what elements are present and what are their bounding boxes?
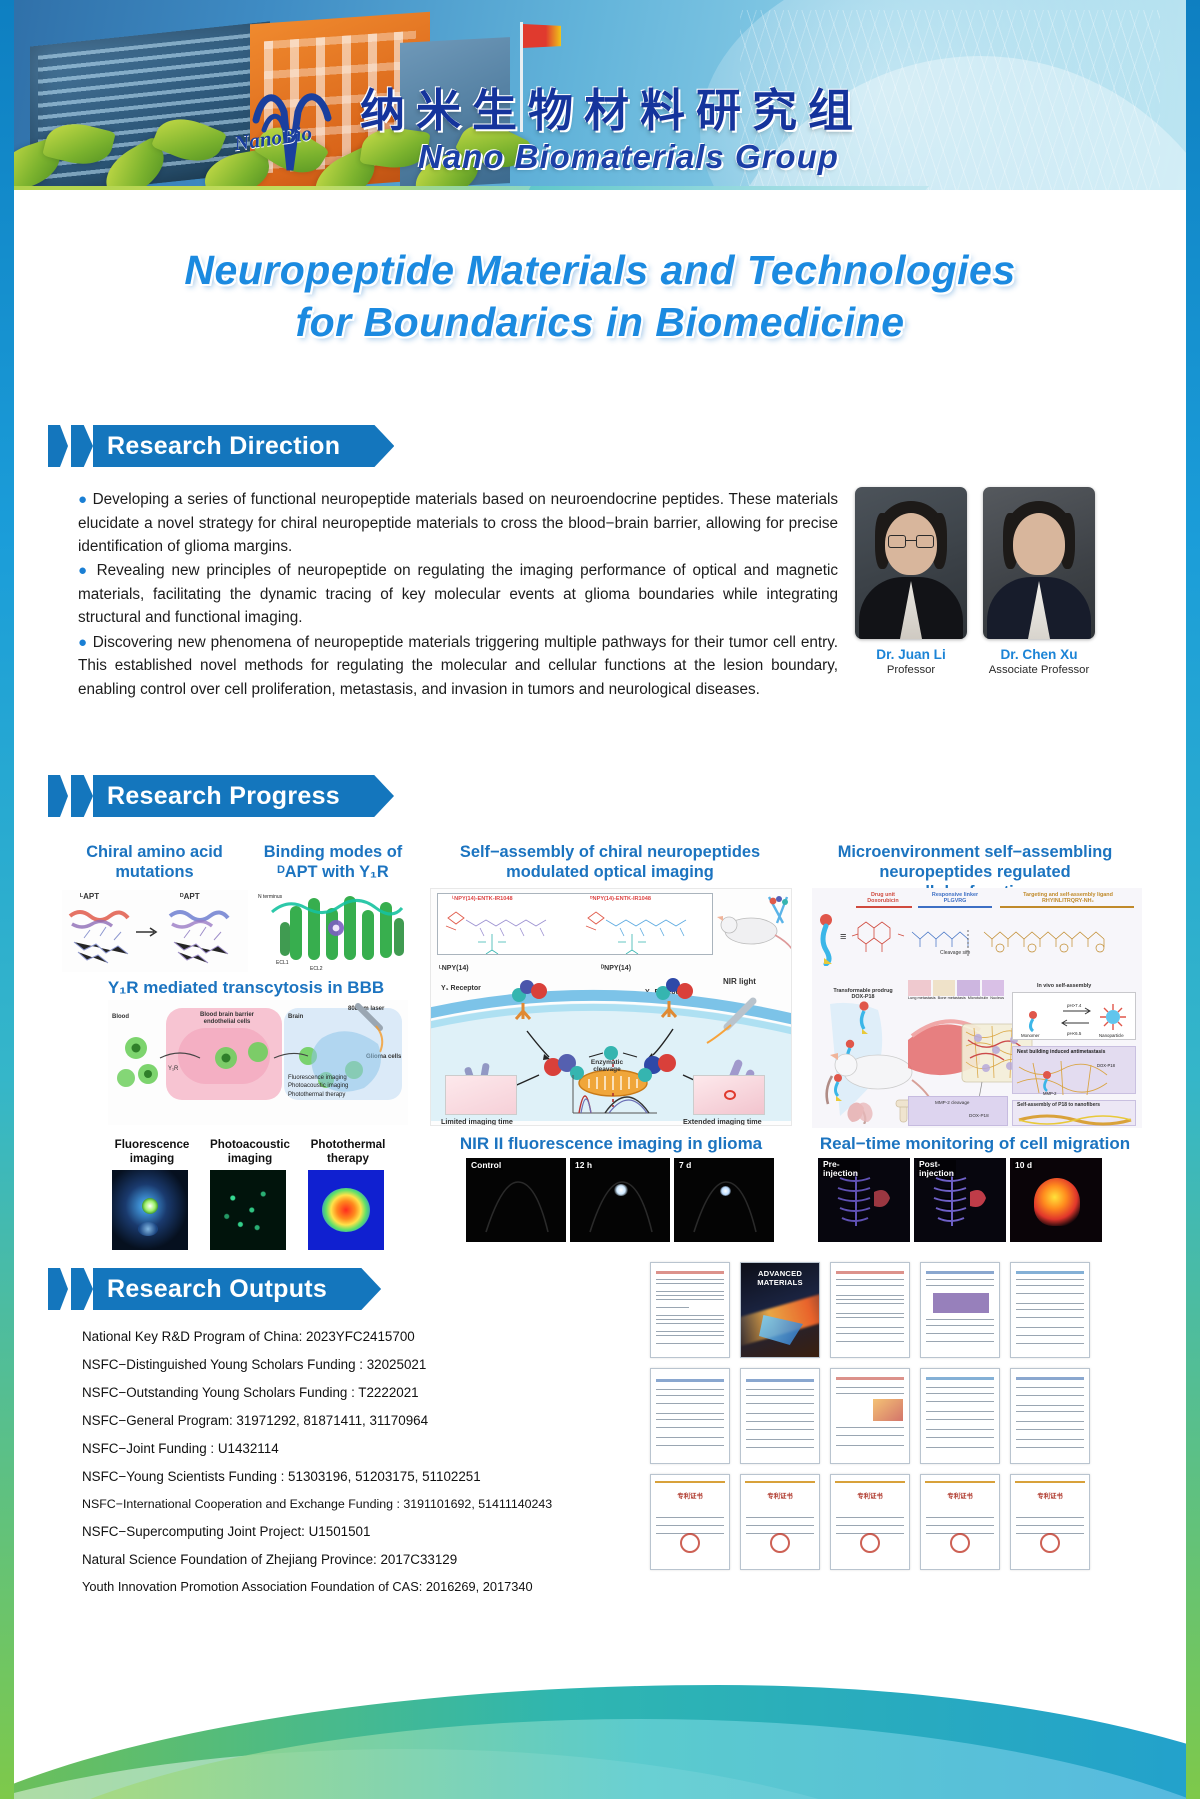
avatar	[983, 487, 1095, 639]
image-nir2-12h: 12 h	[570, 1158, 670, 1242]
svg-text:Monomer: Monomer	[1021, 1033, 1040, 1038]
funding-item: NSFC−General Program: 31971292, 81871411…	[82, 1414, 662, 1427]
bullet-icon: ●	[78, 634, 88, 651]
publication-thumbnail[interactable]	[1010, 1368, 1090, 1464]
funding-item: NSFC−International Cooperation and Excha…	[82, 1498, 662, 1510]
publication-thumbnail[interactable]	[1010, 1262, 1090, 1358]
direction-bullet-3-text: Discovering new phenomena of neuropeptid…	[78, 634, 838, 698]
chevron-icon	[48, 1268, 68, 1310]
team-member-name: Dr. Chen Xu	[983, 647, 1095, 662]
bullet-icon: ●	[78, 491, 88, 508]
label-nest-building: Nest building induced antimetastasis	[1017, 1049, 1105, 1055]
progress-title-binding: Binding modes of ᴰAPT with Y₁R	[243, 842, 423, 882]
progress-title-micro-l2: neuropeptides regulated	[800, 862, 1150, 882]
certificate-thumbnail[interactable]: 专利证书	[650, 1474, 730, 1570]
main-title-line-2: for Boundarics in Biomedicine	[0, 296, 1200, 348]
svg-text:MMP-2: MMP-2	[1043, 1091, 1057, 1096]
bbb-nanoparticle-graphic	[108, 1000, 408, 1125]
funding-item: NSFC−Young Scientists Funding : 51303196…	[82, 1470, 662, 1483]
direction-bullet-2: ● Revealing new principles of neuropepti…	[78, 559, 838, 629]
progress-title-binding-l1: Binding modes of	[243, 842, 423, 862]
image-photothermal	[308, 1170, 384, 1250]
image-pre-injection: Pre- injection	[818, 1158, 910, 1242]
label-probe-l: ᴸNPY(14)-ENTK-IR1048	[452, 896, 513, 902]
team-member-name: Dr. Juan Li	[855, 647, 967, 662]
panel-nest-building: Nest building induced antimetastasis DOX…	[1012, 1046, 1136, 1094]
realtime-cell-caption: Post- injection	[917, 1160, 956, 1177]
probe-molecule-graphic	[438, 906, 714, 954]
image-post-injection: Post- injection	[914, 1158, 1006, 1242]
publication-journal-cover[interactable]: ADVANCED MATERIALS	[740, 1262, 820, 1358]
label-extended-imaging-time: Extended imaging time	[683, 1117, 762, 1126]
certificate-thumbnail[interactable]: 专利证书	[920, 1474, 1000, 1570]
publication-thumbnail[interactable]	[650, 1262, 730, 1358]
funding-item: NSFC−Supercomputing Joint Project: U1501…	[82, 1525, 662, 1538]
bullet-icon: ●	[78, 562, 90, 579]
label-lapt: ᴸAPT	[80, 892, 99, 901]
image-nir2-control: Control	[466, 1158, 566, 1242]
funding-item: NSFC−Distinguished Young Scholars Fundin…	[82, 1358, 662, 1371]
probe-structure-box: ᴸNPY(14)-ENTK-IR1048 ᴰNPY(14)-ENTK-IR104…	[437, 893, 713, 955]
chevron-icon	[48, 775, 68, 817]
direction-bullet-2-text: Revealing new principles of neuropeptide…	[78, 562, 838, 626]
figure-optical-imaging: ᴸNPY(14)-ENTK-IR1048 ᴰNPY(14)-ENTK-IR104…	[430, 888, 792, 1126]
progress-title-self-assembly-l1: Self−assembly of chiral neuropeptides	[430, 842, 790, 862]
bbb-bullet-list: Fluorescence imaging Photoacoustic imagi…	[288, 1074, 348, 1099]
image-limited-imaging	[445, 1075, 517, 1115]
organ-thumbnail-labels: Lung metastasis Bone metastasis Microtub…	[908, 996, 1004, 1000]
progress-title-binding-l2: ᴰAPT with Y₁R	[243, 862, 423, 882]
footer-wave-decoration	[0, 1599, 1200, 1799]
image-nir2-7d: 7 d	[674, 1158, 774, 1242]
image-extended-imaging	[693, 1075, 765, 1115]
bbb-bullet-2: Photothermal therapy	[288, 1091, 348, 1099]
banner-title-english: Nano Biomaterials Group	[418, 138, 839, 176]
direction-bullet-1-text: Developing a series of functional neurop…	[78, 491, 838, 555]
label-invivo-self-assembly: In vivo self-assembly	[1037, 983, 1091, 989]
chevron-icon	[48, 425, 68, 467]
protein-ribbon-graphic: N terminus ECL2 ECL1	[250, 888, 422, 974]
figure-binding-modes: N terminus ECL2 ECL1	[250, 888, 422, 974]
panel-invivo-self-assembly: In vivo self-assembly pH>7.4 pH<6.5 Mono…	[1012, 992, 1136, 1040]
certificate-thumbnail[interactable]: 专利证书	[1010, 1474, 1090, 1570]
publication-thumbnails: ADVANCED MATERIALS	[650, 1262, 1090, 1570]
figure-microenvironment: Drug unitDoxorubicin Responsive linkerPL…	[812, 888, 1142, 1128]
progress-title-self-assembly: Self−assembly of chiral neuropeptides mo…	[430, 842, 790, 882]
progress-title-self-assembly-l2: modulated optical imaging	[430, 862, 790, 882]
chevron-icon	[71, 425, 93, 467]
label-responsive-linker: Responsive linkerPLGVRG	[922, 892, 988, 904]
funding-item: NSFC−Joint Funding : U1432114	[82, 1442, 662, 1455]
label-enzymatic-cleavage: Enzymaticcleavage	[577, 1059, 637, 1074]
realtime-cell-caption: Pre- injection	[821, 1160, 860, 1177]
funding-item: Natural Science Foundation of Zhejiang P…	[82, 1553, 662, 1566]
banner-title-chinese: 纳米生物材料研究组	[360, 74, 864, 139]
publication-thumbnail[interactable]	[740, 1368, 820, 1464]
nir2-cell-caption: 7 d	[677, 1160, 693, 1170]
spectra-plot	[565, 1073, 661, 1117]
caption-fluorescence-imaging: Fluorescence imaging	[106, 1138, 198, 1165]
certificate-thumbnail[interactable]: 专利证书	[830, 1474, 910, 1570]
prodrug-molecule-graphic: ≡	[812, 910, 1142, 966]
section-title-label: Research Direction	[107, 432, 340, 461]
journal-title: ADVANCED MATERIALS	[745, 1269, 815, 1287]
progress-title-nir2: NIR II fluorescence imaging in glioma	[430, 1134, 792, 1155]
label-drug-unit: Drug unitDoxorubicin	[856, 892, 910, 904]
label-dox-p18: DOX-P18	[969, 1113, 989, 1118]
publication-thumbnail[interactable]	[830, 1368, 910, 1464]
direction-bullet-3: ● Discovering new phenomena of neuropept…	[78, 631, 838, 701]
monomer-nanoparticle-graphic: pH>7.4 pH<6.5 Monomer Nanoparticle	[1013, 993, 1137, 1041]
realtime-cell-caption: 10 d	[1013, 1160, 1034, 1170]
bbb-bullet-0: Fluorescence imaging	[288, 1074, 348, 1082]
caption-photothermal-therapy: Photothermal therapy	[300, 1138, 396, 1165]
chevron-icon	[71, 775, 93, 817]
label-mmp-cleavage: MMP-2 cleavage	[935, 1100, 969, 1105]
nir2-cell-caption: Control	[469, 1160, 503, 1170]
caption-photoacoustic-imaging: Photoacoustic imaging	[200, 1138, 300, 1165]
funding-item: Youth Innovation Promotion Association F…	[82, 1581, 662, 1594]
progress-title-chiral-l2: mutations	[62, 862, 247, 882]
image-photoacoustic	[210, 1170, 286, 1250]
funding-item: NSFC−Outstanding Young Scholars Funding …	[82, 1386, 662, 1399]
panel-selfassembly-nanofibers: Self-assembly of P18 to nanofibers	[1012, 1100, 1136, 1126]
section-header-research-progress: Research Progress	[48, 775, 374, 817]
svg-text:DOX-P18: DOX-P18	[1097, 1063, 1116, 1068]
publication-thumbnail[interactable]	[650, 1368, 730, 1464]
funding-item: National Key R&D Program of China: 2023Y…	[82, 1330, 662, 1343]
label-targeting-ligand: Targeting and self-assembly ligandRHYINL…	[1004, 892, 1132, 904]
label-probe-d: ᴰNPY(14)-ENTK-IR1048	[590, 896, 651, 902]
team-member: Dr. Chen Xu Associate Professor	[983, 487, 1095, 672]
main-title-line-1: Neuropeptide Materials and Technologies	[0, 244, 1200, 296]
certificate-thumbnail[interactable]: 专利证书	[740, 1474, 820, 1570]
section-title-label: Research Outputs	[107, 1275, 327, 1304]
nanobio-logo: NanoBio	[228, 82, 340, 174]
svg-text:≡: ≡	[840, 931, 846, 943]
peptide-structure-graphic	[62, 902, 248, 972]
progress-title-realtime: Real−time monitoring of cell migration	[800, 1134, 1150, 1155]
publication-thumbnail[interactable]	[830, 1262, 910, 1358]
svg-text:ECL2: ECL2	[310, 966, 323, 972]
svg-text:Nanoparticle: Nanoparticle	[1099, 1033, 1124, 1038]
panel-cell-internalization: MMP-2 cleavage DOX-P18	[908, 1096, 1008, 1126]
progress-title-micro-l1: Microenvironment self−assembling	[800, 842, 1150, 862]
glasses-icon	[888, 535, 934, 548]
section-header-research-direction: Research Direction	[48, 425, 374, 467]
image-fluorescence	[112, 1170, 188, 1250]
chevron-icon	[71, 1268, 93, 1310]
svg-text:pH<6.5: pH<6.5	[1067, 1031, 1082, 1036]
svg-text:N terminus: N terminus	[258, 894, 283, 900]
label-dapt: ᴰAPT	[180, 892, 200, 901]
research-direction-body: ● Developing a series of functional neur…	[78, 488, 838, 702]
progress-title-chiral: Chiral amino acid mutations	[62, 842, 247, 882]
svg-text:ECL1: ECL1	[276, 960, 289, 966]
svg-text:pH>7.4: pH>7.4	[1067, 1003, 1082, 1008]
avatar	[855, 487, 967, 639]
team-member: Dr. Juan Li Professor	[855, 487, 967, 672]
header-banner: NanoBio 纳米生物材料研究组 Nano Biomaterials Grou…	[0, 0, 1200, 196]
frame-border-right	[1186, 0, 1200, 1799]
progress-title-y1r-bbb: Y₁R mediated transcytosis in BBB	[60, 978, 432, 999]
publication-thumbnail[interactable]	[920, 1262, 1000, 1358]
nanofiber-network-graphic: DOX-P18 MMP-2	[1013, 1057, 1137, 1097]
bbb-bullet-1: Photoacoustic imaging	[288, 1082, 348, 1090]
nir2-cell-caption: 12 h	[573, 1160, 594, 1170]
label-limited-imaging-time: Limited imaging time	[441, 1117, 513, 1126]
poster-main-title: Neuropeptide Materials and Technologies …	[0, 244, 1200, 349]
funding-list: National Key R&D Program of China: 2023Y…	[82, 1330, 662, 1608]
direction-bullet-1: ● Developing a series of functional neur…	[78, 488, 838, 558]
section-title-label: Research Progress	[107, 782, 340, 811]
progress-title-chiral-l1: Chiral amino acid	[62, 842, 247, 862]
label-selfassembly-nanofibers: Self-assembly of P18 to nanofibers	[1017, 1102, 1100, 1108]
frame-border-left	[0, 0, 14, 1799]
figure-bbb-transcytosis: Blood Blood brain barrierendothelial cel…	[108, 1000, 408, 1125]
organ-thumbnails	[908, 980, 1004, 996]
label-transformable-prodrug: Transformable prodrugDOX-P18	[826, 988, 900, 1000]
poster-root: NanoBio 纳米生物材料研究组 Nano Biomaterials Grou…	[0, 0, 1200, 1799]
team-member-role: Associate Professor	[983, 664, 1095, 676]
section-header-research-outputs: Research Outputs	[48, 1268, 361, 1310]
team-members: Dr. Juan Li Professor Dr. Chen Xu Associ…	[855, 487, 1135, 672]
team-member-role: Professor	[855, 664, 967, 676]
publication-thumbnail[interactable]	[920, 1368, 1000, 1464]
mouse-injection-graphic	[717, 891, 792, 957]
image-10d: 10 d	[1010, 1158, 1102, 1242]
figure-chiral-mutations: ᴸAPT ᴰAPT	[62, 890, 248, 972]
